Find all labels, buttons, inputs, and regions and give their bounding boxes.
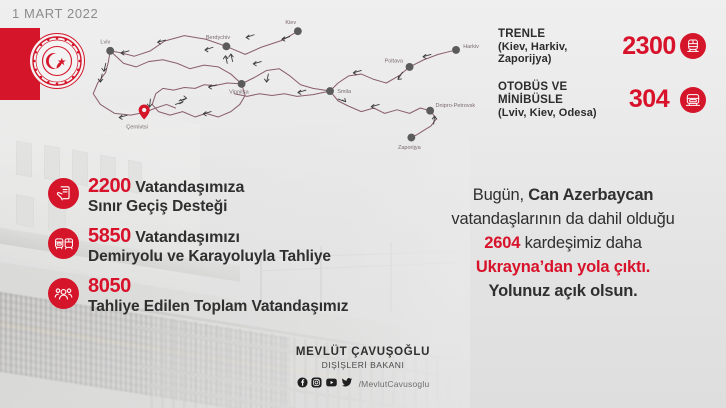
stat-total-evacuated: 8050 Tahliye Edilen Toplam Vatandaşımız [48,276,378,315]
message-line-1-a: Bugün, [473,186,528,204]
message-line-1: Bugün, Can Azerbaycan [404,184,722,208]
svg-text:Vinnitsa: Vinnitsa [229,90,250,96]
stat-bus-label: OTOBÜS VE [498,81,618,94]
stat-bus: OTOBÜS VE MİNİBÜSLE (Lviv, Kiev, Odesa) … [498,81,718,119]
svg-text:Harkiv: Harkiv [463,44,479,50]
stat-train-cities: (Kiev, Harkiv, Zaporijya) [498,41,618,65]
ukraine-evacuation-route-map: Lviv Berdychiv Kiev Vinnitsa Çernivtsi S… [70,8,490,158]
message-line-4: Ukrayna’dan yola çıktı. [404,256,722,280]
evacuation-stats-panel: 2200 Vatandaşımıza Sınır Geçiş Desteği [48,176,378,326]
stat-total-value: 8050 [88,275,131,297]
stat-border-line1: Vatandaşımıza [135,179,244,196]
svg-text:Zaporijya: Zaporijya [398,145,422,151]
infographic-root: 1 MART 2022 [0,0,726,408]
stat-border-support: 2200 Vatandaşımıza Sınır Geçiş Desteği [48,176,378,215]
message-line-1-b: Can Azerbaycan [528,186,653,204]
social-links: /MevlutCavusoglu [0,375,726,393]
svg-text:Çernivtsi: Çernivtsi [126,125,148,131]
train-icon [680,33,706,59]
stat-bus-label-2: MİNİBÜSLE [498,94,618,107]
passport-hand-icon [48,178,79,209]
message-line-3: 2604 kardeşimiz daha [404,232,722,256]
stat-evac-line1: Vatandaşımızı [135,229,240,246]
bus-icon [680,87,706,113]
facebook-icon[interactable] [297,375,308,393]
stat-evac-line2: Demiryolu ve Karayoluyla Tahliye [88,248,331,265]
message-line-2: vatandaşlarının da dahil olduğu [404,208,722,232]
stat-border-line2: Sınır Geçiş Desteği [88,198,244,215]
people-group-icon [48,278,79,309]
stat-bus-cities: (Lviv, Kiev, Odesa) [498,107,618,119]
stat-total-line2: Tahliye Edilen Toplam Vatandaşımız [88,298,348,315]
svg-text:Dnipro-Petrovsk: Dnipro-Petrovsk [435,103,475,109]
message-line-3-rest: kardeşimiz daha [520,234,642,252]
stat-rail-road-evacuation: 5850 Vatandaşımızı Demiryolu ve Karayolu… [48,226,378,265]
svg-text:Poltava: Poltava [385,58,404,64]
transport-stats-panel: TRENLE (Kiev, Harkiv, Zaporijya) 2300 OT… [498,28,718,135]
twitter-icon[interactable] [341,375,353,393]
message-line-5: Yolunuz açık olsun. [404,280,722,304]
message-block: Bugün, Can Azerbaycan vatandaşlarının da… [404,184,722,304]
social-handle[interactable]: /MevlutCavusoglu [359,379,430,389]
stat-train: TRENLE (Kiev, Harkiv, Zaporijya) 2300 [498,28,718,65]
stat-train-value: 2300 [618,32,680,61]
youtube-icon[interactable] [325,375,338,393]
svg-text:Lviv: Lviv [100,40,110,46]
svg-text:Kiev: Kiev [285,20,296,26]
stat-train-label: TRENLE [498,28,618,41]
svg-text:Smila: Smila [337,89,352,95]
stat-bus-value: 304 [618,85,680,114]
svg-text:Berdychiv: Berdychiv [206,35,231,41]
instagram-icon[interactable] [311,375,322,393]
stat-border-value: 2200 [88,175,131,197]
footer: MEVLÜT ÇAVUŞOĞLU DIŞİŞLERİ BAKANI /Mevlu… [0,346,726,393]
message-count: 2604 [484,234,520,252]
stat-evac-value: 5850 [88,225,131,247]
minister-name: MEVLÜT ÇAVUŞOĞLU [0,346,726,358]
minister-title: DIŞİŞLERİ BAKANI [0,360,726,370]
bus-train-icon [48,228,79,259]
